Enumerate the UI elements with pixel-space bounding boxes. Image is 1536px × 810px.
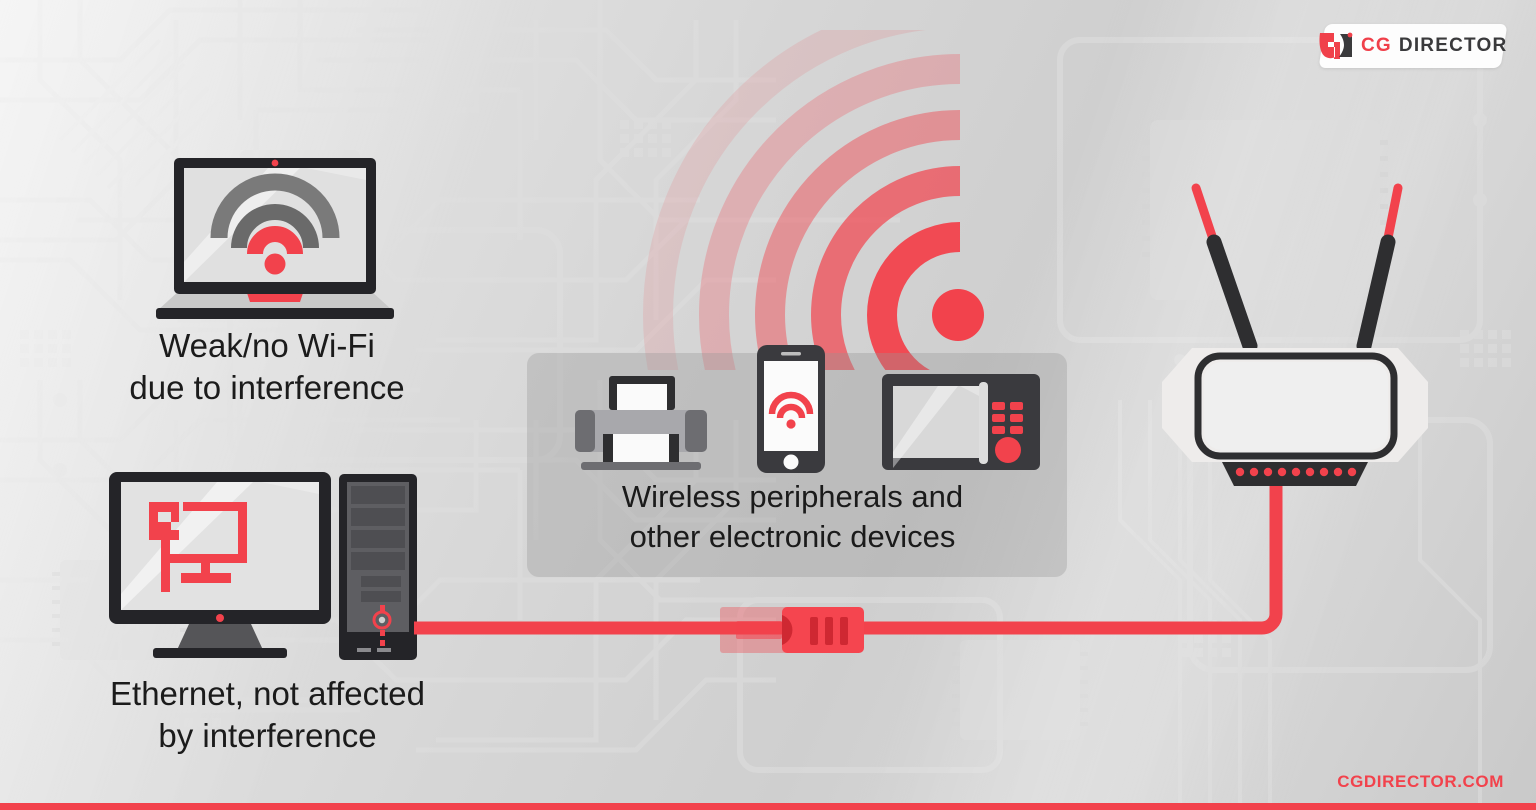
cgdirector-logo[interactable]: CGDIRECTOR — [1319, 24, 1508, 68]
caption-ethernet: Ethernet, not affected by interference — [30, 673, 505, 757]
caption-wireless-devices-line2: other electronic devices — [545, 517, 1040, 557]
caption-wireless-devices: Wireless peripherals and other electroni… — [545, 477, 1040, 556]
caption-ethernet-line2: by interference — [30, 715, 505, 757]
laptop-icon — [150, 150, 400, 335]
caption-weak-wifi-line2: due to interference — [52, 367, 482, 409]
footer-accent-bar — [0, 803, 1536, 810]
smartphone-icon — [755, 343, 827, 475]
wifi-router-icon — [1150, 170, 1440, 490]
printer-icon — [573, 374, 709, 474]
caption-weak-wifi-line1: Weak/no Wi-Fi — [52, 325, 482, 367]
footer-url[interactable]: CGDIRECTOR.COM — [1337, 772, 1504, 792]
caption-wireless-devices-line1: Wireless peripherals and — [545, 477, 1040, 517]
logo-text-director: DIRECTOR — [1399, 35, 1507, 57]
cgdirector-mark-icon — [1318, 31, 1354, 61]
microwave-icon — [880, 372, 1042, 474]
wifi-signal-waves-icon — [560, 30, 1020, 370]
logo-text-cg: CG — [1361, 35, 1392, 57]
desktop-monitor-icon — [105, 468, 335, 660]
caption-weak-wifi: Weak/no Wi-Fi due to interference — [52, 325, 482, 409]
rj45-connector-icon — [718, 597, 866, 663]
infographic-canvas: CGDIRECTOR — [0, 0, 1536, 810]
